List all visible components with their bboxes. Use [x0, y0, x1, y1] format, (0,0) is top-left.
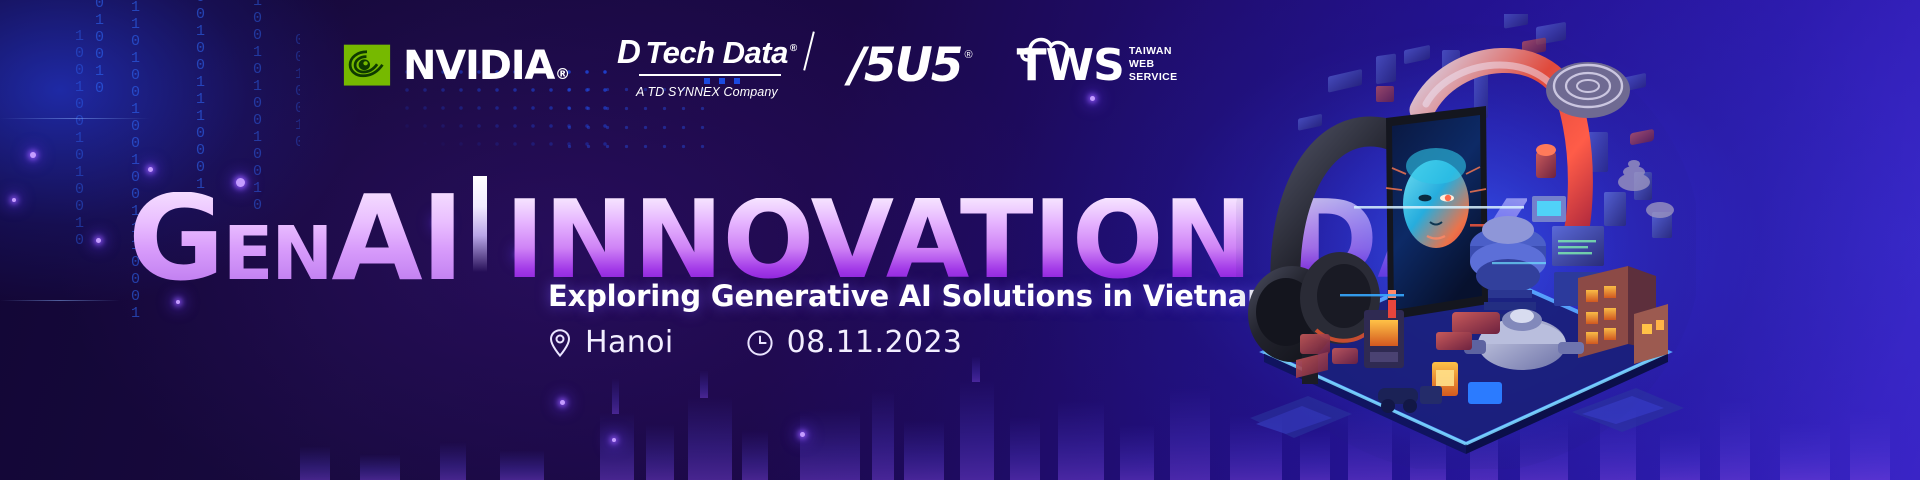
location-label: Hanoi [585, 325, 674, 360]
tech-data-dots-decor [704, 78, 740, 84]
glow-dot [30, 152, 36, 158]
clock-icon [746, 329, 774, 357]
tech-data-slash-decor [803, 31, 815, 70]
cloud-icon [1020, 29, 1090, 63]
nvidia-registered-mark: ® [555, 65, 569, 83]
tech-data-wordmark: D Tech Data ® [617, 33, 797, 71]
genai-innovation-day-banner: 0010010 1001001010010 011010010010011100… [0, 0, 1920, 480]
genai-brandmark: G EN AI [128, 192, 463, 284]
partner-logo-row: NVIDIA® D Tech Data ® A TD SYNNEX Compan… [340, 38, 1178, 94]
subtitle: Exploring Generative AI Solutions in Vie… [548, 279, 1277, 313]
decor-line [0, 118, 150, 119]
glow-dot [560, 400, 565, 405]
glow-dot [612, 438, 616, 442]
glow-dot [800, 432, 805, 437]
decor-line [0, 300, 120, 301]
tech-data-registered-mark: ® [790, 43, 797, 54]
date-label: 08.11.2023 [787, 325, 963, 360]
glow-dot [12, 198, 16, 202]
tech-data-tagline: A TD SYNNEX Company [636, 85, 778, 99]
tws-line-3: SERVICE [1129, 71, 1178, 84]
asus-registered-mark: ® [964, 49, 972, 61]
nvidia-logo[interactable]: NVIDIA® [340, 42, 569, 90]
tech-data-monogram: D [617, 33, 640, 71]
asus-logo[interactable]: /5U5 ® [849, 45, 973, 87]
tech-data-name: Tech Data [645, 35, 788, 71]
asus-wordmark: /5U5 [849, 45, 962, 87]
ai-isometric-illustration [1236, 14, 1696, 469]
nvidia-wordmark: NVIDIA® [403, 46, 569, 86]
binary-stream: 1001001010010 [72, 28, 87, 249]
meta-location: Hanoi [548, 325, 674, 360]
event-meta: Hanoi 08.11.2023 [548, 325, 962, 360]
genai-en: EN [223, 226, 331, 284]
tech-data-logo[interactable]: D Tech Data ® A TD SYNNEX Company [617, 33, 797, 99]
tws-line-1: TAIWAN [1129, 45, 1178, 58]
tws-tagline: TAIWAN WEB SERVICE [1129, 45, 1178, 83]
meta-date: 08.11.2023 [746, 325, 963, 360]
binary-stream: 0010010 [92, 0, 107, 97]
tws-logo[interactable]: TWS TAIWAN WEB SERVICE [1017, 45, 1178, 86]
glow-dot [1090, 96, 1095, 101]
genai-lead: G [128, 192, 223, 284]
glow-dot [96, 238, 101, 243]
headline-divider [473, 176, 487, 272]
genai-ai: AI [331, 192, 462, 284]
tech-data-rule [639, 74, 781, 76]
location-pin-icon [548, 328, 572, 358]
binary-stream: 0010010 [292, 32, 300, 151]
tws-line-2: WEB [1129, 58, 1178, 71]
nvidia-eye-icon [340, 42, 394, 90]
